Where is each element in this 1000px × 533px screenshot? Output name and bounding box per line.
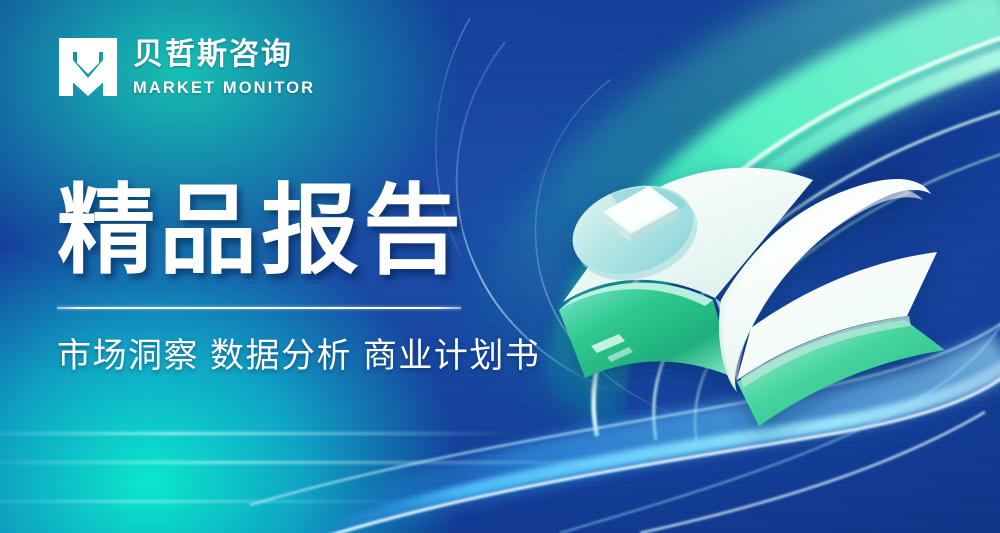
open-book-illustration	[545, 150, 965, 450]
brand-name-cn: 贝哲斯咨询	[133, 37, 315, 73]
light-band-2	[0, 461, 640, 464]
light-band-3	[0, 500, 420, 503]
brand-name-en: MARKET MONITOR	[133, 77, 315, 99]
market-monitor-m-logo-icon	[57, 36, 119, 98]
light-band-1	[0, 432, 520, 435]
page-subtitle: 市场洞察 数据分析 商业计划书	[57, 333, 540, 379]
title-divider	[57, 307, 461, 309]
brand-text: 贝哲斯咨询 MARKET MONITOR	[133, 36, 315, 99]
brand-logo[interactable]: 贝哲斯咨询 MARKET MONITOR	[57, 36, 315, 99]
report-banner: 贝哲斯咨询 MARKET MONITOR 精品报告 市场洞察 数据分析 商业计划…	[0, 0, 1000, 533]
page-title: 精品报告	[57, 178, 465, 282]
